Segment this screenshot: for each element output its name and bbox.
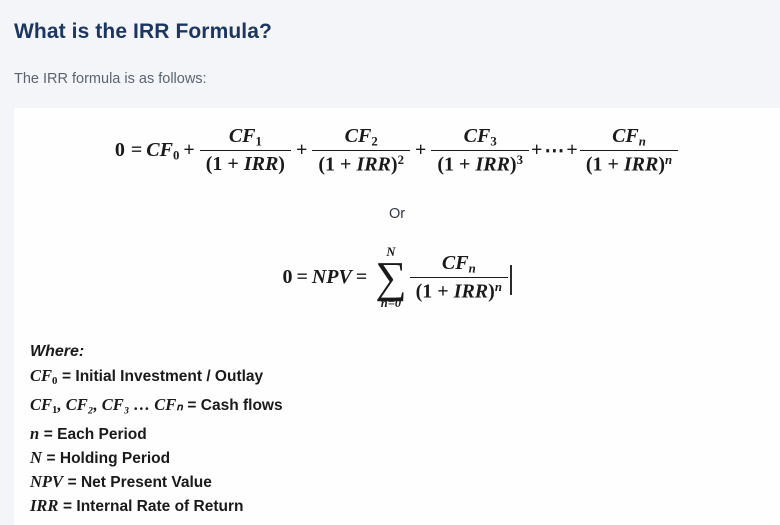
fraction-denominator: (1 + IRR)n <box>410 277 508 303</box>
fraction-numerator: CF2 <box>337 126 386 150</box>
page-header: What is the IRR Formula? The IRR formula… <box>0 0 780 108</box>
legend-row: IRR = Internal Rate of Return <box>30 494 283 518</box>
fraction-denominator: (1 + IRR)3 <box>431 150 529 176</box>
legend-symbol-base: CF <box>30 366 52 385</box>
denominator-close: ) <box>510 154 517 176</box>
summation-lower-limit: n=0 <box>381 297 401 310</box>
legend-row: NPV = Net Present Value <box>30 470 283 494</box>
numerator-base: CF <box>464 125 491 147</box>
legend-description: = Initial Investment / Outlay <box>62 368 263 385</box>
npv-summation-equation: 0 = NPV = N ∑ n=0 CFn (1 + IRR)n <box>14 246 780 309</box>
equation-equals: = <box>127 139 146 162</box>
npv-equals-1: = <box>292 266 311 289</box>
legend-row: CF1, CF₂, CF₃ … CFₙ = Cash flows <box>30 393 283 422</box>
plus-operator-2: + <box>292 139 311 162</box>
where-legend: Where: CF0 = Initial Investment / Outlay… <box>30 343 283 518</box>
denominator-exponent: n <box>495 280 502 294</box>
numerator-base: CF <box>229 125 256 147</box>
plus-operator-5: + <box>565 139 578 162</box>
legend-row: N = Holding Period <box>30 446 283 470</box>
or-divider: Or <box>14 206 780 222</box>
legend-description: = Net Present Value <box>68 474 212 491</box>
legend-symbol-subscript: 0 <box>52 375 57 387</box>
npv-zero: 0 <box>282 266 292 289</box>
numerator-base: CF <box>442 252 469 274</box>
legend-symbol-extra: , CF₂, CF₃ … CFₙ <box>57 395 182 414</box>
npv-fraction-term: CFn (1 + IRR)n <box>410 253 508 303</box>
legend-symbol: CF1, CF₂, CF₃ … CFₙ <box>30 395 183 414</box>
page-title: What is the IRR Formula? <box>14 20 272 44</box>
denominator-open: (1 + <box>318 154 356 176</box>
fraction-term-1: CF1 (1 + IRR) <box>200 126 291 175</box>
formula-card: 0 = CF0 + CF1 (1 + IRR) + CF2 (1 + IRR)2… <box>14 108 780 525</box>
denominator-open: (1 + <box>416 280 454 302</box>
denominator-irr: IRR <box>475 154 509 176</box>
denominator-close: ) <box>488 280 495 302</box>
legend-symbol-base: CF <box>30 395 52 414</box>
legend-description: = Each Period <box>44 426 147 443</box>
legend-description: = Cash flows <box>187 397 282 414</box>
plus-operator-4: + <box>530 139 543 162</box>
denominator-irr: IRR <box>244 153 278 175</box>
fraction-term-2: CF2 (1 + IRR)2 <box>312 126 410 176</box>
fraction-denominator: (1 + IRR)n <box>580 150 678 176</box>
fraction-term-3: CF3 (1 + IRR)3 <box>431 126 529 176</box>
fraction-numerator: CFn <box>604 126 654 150</box>
fraction-numerator: CF3 <box>456 126 505 150</box>
legend-description: = Internal Rate of Return <box>63 498 243 515</box>
ellipsis-icon: ⋯ <box>543 138 565 163</box>
npv-symbol: NPV <box>312 266 352 289</box>
summation-block: N ∑ n=0 <box>375 246 406 309</box>
legend-symbol: IRR <box>30 496 58 515</box>
numerator-subscript: 1 <box>256 135 262 149</box>
fraction-denominator: (1 + IRR)2 <box>312 150 410 176</box>
legend-symbol: N <box>30 448 42 467</box>
denominator-open: (1 + <box>437 154 475 176</box>
plus-operator-1: + <box>179 139 198 162</box>
legend-row: n = Each Period <box>30 422 283 446</box>
denominator-exponent: 2 <box>398 153 404 167</box>
denominator-open: (1 + <box>586 154 624 176</box>
legend-symbol: NPV <box>30 472 63 491</box>
denominator-irr: IRR <box>624 154 658 176</box>
legend-symbol: n <box>30 424 39 443</box>
page-subtitle: The IRR formula is as follows: <box>14 71 207 87</box>
denominator-close: ) <box>278 153 285 175</box>
numerator-subscript: n <box>639 135 646 149</box>
irr-formula-equation: 0 = CF0 + CF1 (1 + IRR) + CF2 (1 + IRR)2… <box>14 126 780 176</box>
npv-equals-2: = <box>352 266 371 289</box>
numerator-base: CF <box>345 125 372 147</box>
numerator-subscript: n <box>469 261 476 275</box>
cf-zero-term: CF0 <box>146 139 179 164</box>
legend-row: CF0 = Initial Investment / Outlay <box>30 364 283 393</box>
numerator-subscript: 2 <box>371 135 377 149</box>
where-label: Where: <box>30 343 283 361</box>
denominator-open: (1 + <box>206 153 244 175</box>
denominator-exponent: 3 <box>517 153 523 167</box>
legend-symbol: CF0 <box>30 366 57 385</box>
numerator-subscript: 3 <box>490 135 496 149</box>
numerator-base: CF <box>612 125 639 147</box>
fraction-numerator: CFn <box>434 253 484 277</box>
denominator-exponent: n <box>665 153 672 167</box>
fraction-numerator: CF1 <box>221 126 270 150</box>
denominator-irr: IRR <box>454 280 488 302</box>
plus-operator-3: + <box>411 139 430 162</box>
sigma-icon: ∑ <box>375 260 406 296</box>
denominator-close: ) <box>391 154 398 176</box>
denominator-irr: IRR <box>356 154 390 176</box>
denominator-close: ) <box>658 154 665 176</box>
legend-description: = Holding Period <box>47 450 171 467</box>
equation-zero: 0 <box>115 139 127 162</box>
text-cursor-caret <box>510 265 512 295</box>
fraction-denominator: (1 + IRR) <box>200 150 291 175</box>
fraction-term-n: CFn (1 + IRR)n <box>580 126 678 176</box>
cf-zero-base: CF <box>146 139 173 161</box>
